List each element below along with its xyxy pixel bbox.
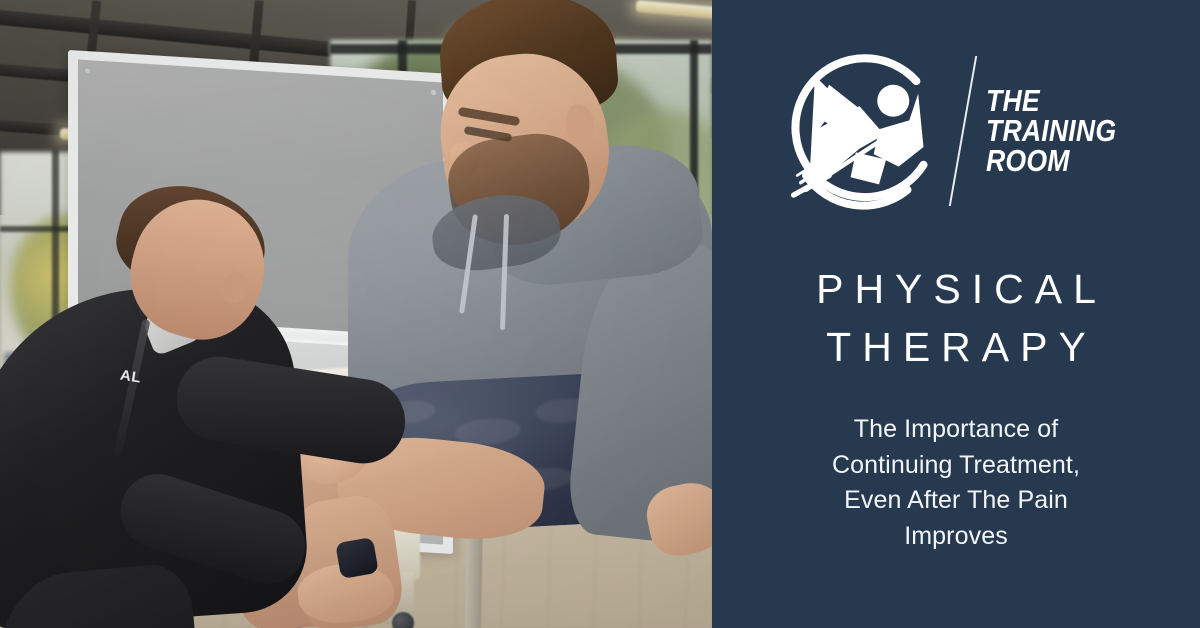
wordmark: THE TRAINING ROOM <box>986 86 1137 175</box>
promo-banner: AL <box>0 0 1200 628</box>
therapist: AL <box>0 192 420 628</box>
logo-divider-slash <box>949 56 977 206</box>
wordmark-line-room: ROOM <box>986 146 1116 176</box>
screen-screw <box>84 67 91 74</box>
subhead-line-4: Improves <box>791 519 1121 555</box>
running-figure-in-circle-icon <box>774 42 952 220</box>
hero-photo: AL <box>0 0 712 628</box>
subhead-line-3: Even After The Pain <box>791 483 1121 519</box>
wordmark-line-the: THE <box>986 86 1116 116</box>
headline-line-1: PHYSICAL <box>805 260 1107 318</box>
content-panel: THE TRAINING ROOM PHYSICAL THERAPY The I… <box>712 0 1200 628</box>
subhead-line-2: Continuing Treatment, <box>791 448 1121 484</box>
headline-line-2: THERAPY <box>805 318 1107 376</box>
wordmark-line-training: TRAINING <box>986 116 1116 146</box>
page-title: PHYSICAL THERAPY <box>805 260 1107 376</box>
therapist-wristband <box>335 537 379 579</box>
patient <box>380 0 712 628</box>
page-subtitle: The Importance of Continuing Treatment, … <box>791 412 1121 554</box>
subhead-line-1: The Importance of <box>791 412 1121 448</box>
brand-lockup[interactable]: THE TRAINING ROOM <box>774 42 1137 220</box>
